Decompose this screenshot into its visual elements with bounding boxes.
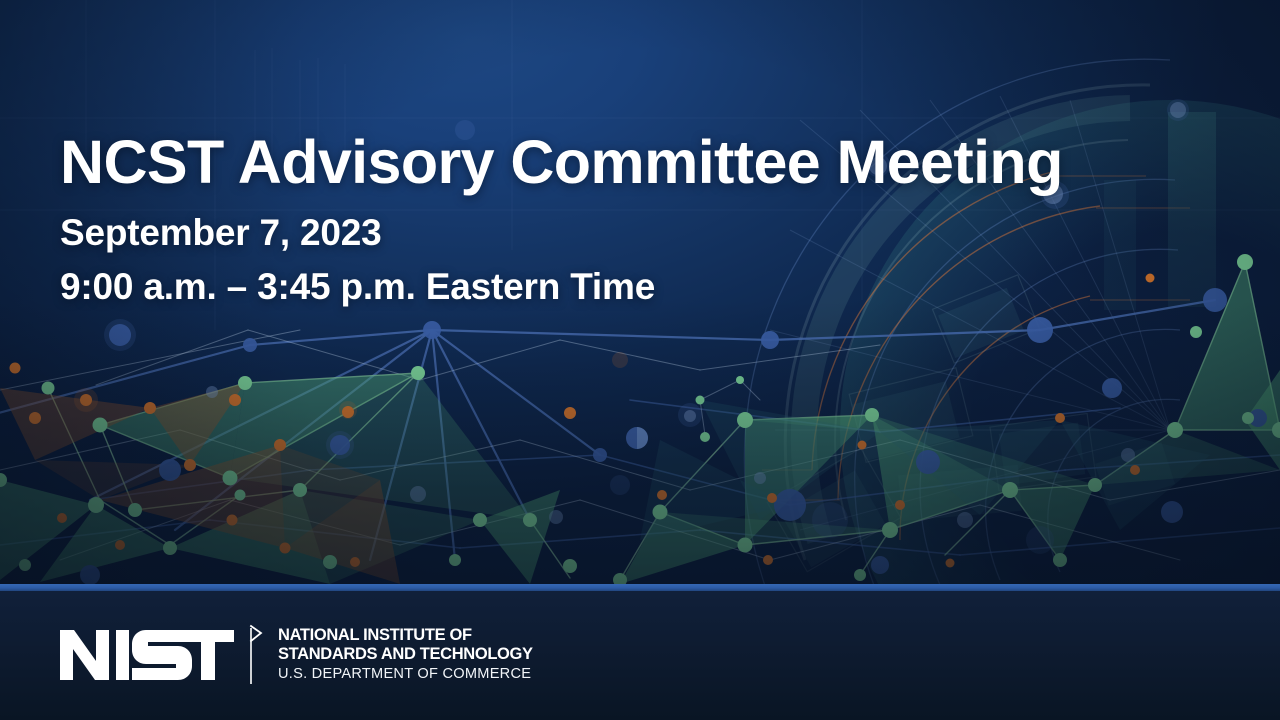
nist-wordmark-icon [58, 628, 234, 682]
logo-divider-chevron-icon [246, 624, 264, 686]
logo-line-department-of-commerce: U.S. DEPARTMENT OF COMMERCE [278, 664, 533, 684]
meeting-date: September 7, 2023 [60, 206, 1160, 260]
nist-logo: NATIONAL INSTITUTE OF STANDARDS AND TECH… [58, 617, 533, 693]
headline-block: NCST Advisory Committee Meeting Septembe… [60, 126, 1160, 314]
page-title: NCST Advisory Committee Meeting [60, 126, 1160, 198]
logo-line-standards-and-technology: STANDARDS AND TECHNOLOGY [278, 645, 533, 664]
footer-divider [0, 584, 1280, 591]
logo-text-block: NATIONAL INSTITUTE OF STANDARDS AND TECH… [278, 626, 533, 684]
slide-canvas: NCST Advisory Committee Meeting Septembe… [0, 0, 1280, 720]
meeting-time: 9:00 a.m. – 3:45 p.m. Eastern Time [60, 260, 1160, 314]
logo-line-national-institute-of: NATIONAL INSTITUTE OF [278, 626, 533, 645]
